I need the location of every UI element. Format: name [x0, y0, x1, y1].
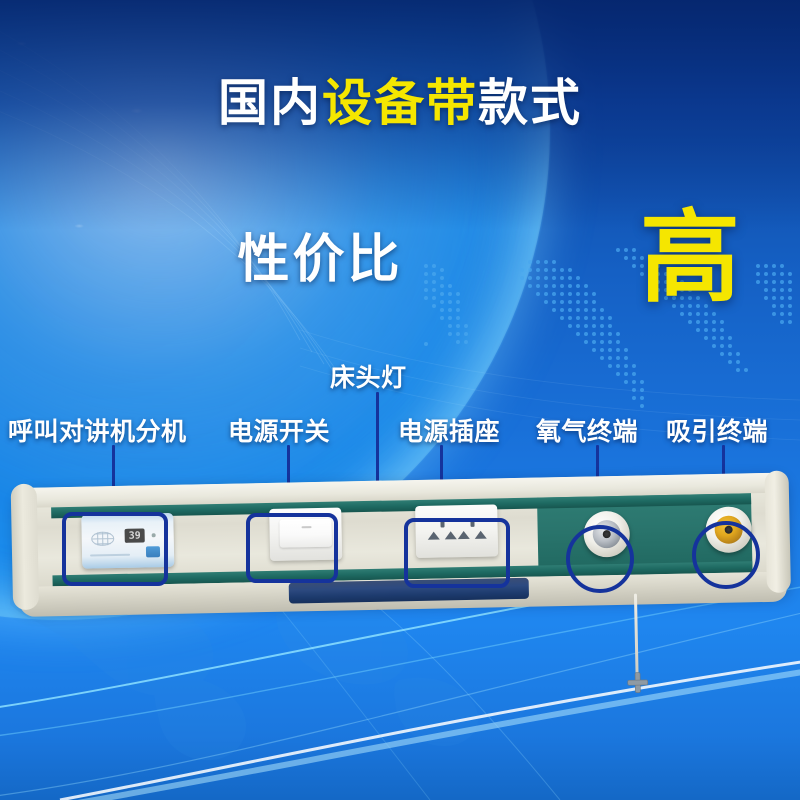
panel-end-cap-left [11, 484, 40, 610]
highlight-suction-terminal [692, 521, 760, 589]
headline-seg-2: 设备带 [322, 75, 478, 131]
callout-label-suction-terminal: 吸引终端 [666, 412, 768, 448]
highlight-power-outlet [404, 518, 510, 588]
headline-line-2: 性价比 高 [0, 234, 800, 286]
callout-label-power-outlet: 电源插座 [398, 412, 500, 448]
panel-end-cap-right [765, 471, 791, 593]
pull-cord[interactable] [634, 594, 639, 676]
highlight-intercom [62, 512, 168, 586]
callout-label-power-switch: 电源开关 [228, 412, 330, 448]
pull-cord-cross-fitting [627, 671, 649, 693]
headline-block: 国内设备带款式 性价比 高 [0, 78, 800, 128]
callout-label-bed-lamp: 床头灯 [330, 358, 407, 394]
headline-seg-3: 款式 [478, 75, 582, 131]
callout-label-intercom: 呼叫对讲机分机 [8, 412, 187, 448]
highlight-power-switch [246, 513, 338, 583]
callout-label-oxygen-terminal: 氧气终端 [536, 412, 638, 448]
highlight-oxygen-terminal [566, 525, 634, 593]
headline-line-1: 国内设备带款式 [0, 78, 800, 128]
promo-banner: 国内设备带款式 性价比 高 呼叫对讲机分机 电源开关 床头灯 电源插座 氧气终端… [0, 0, 800, 800]
headline-value-text: 性价比 [237, 234, 402, 286]
headline-seg-1: 国内 [218, 75, 322, 131]
headline-emphasis-char: 高 [640, 208, 740, 308]
